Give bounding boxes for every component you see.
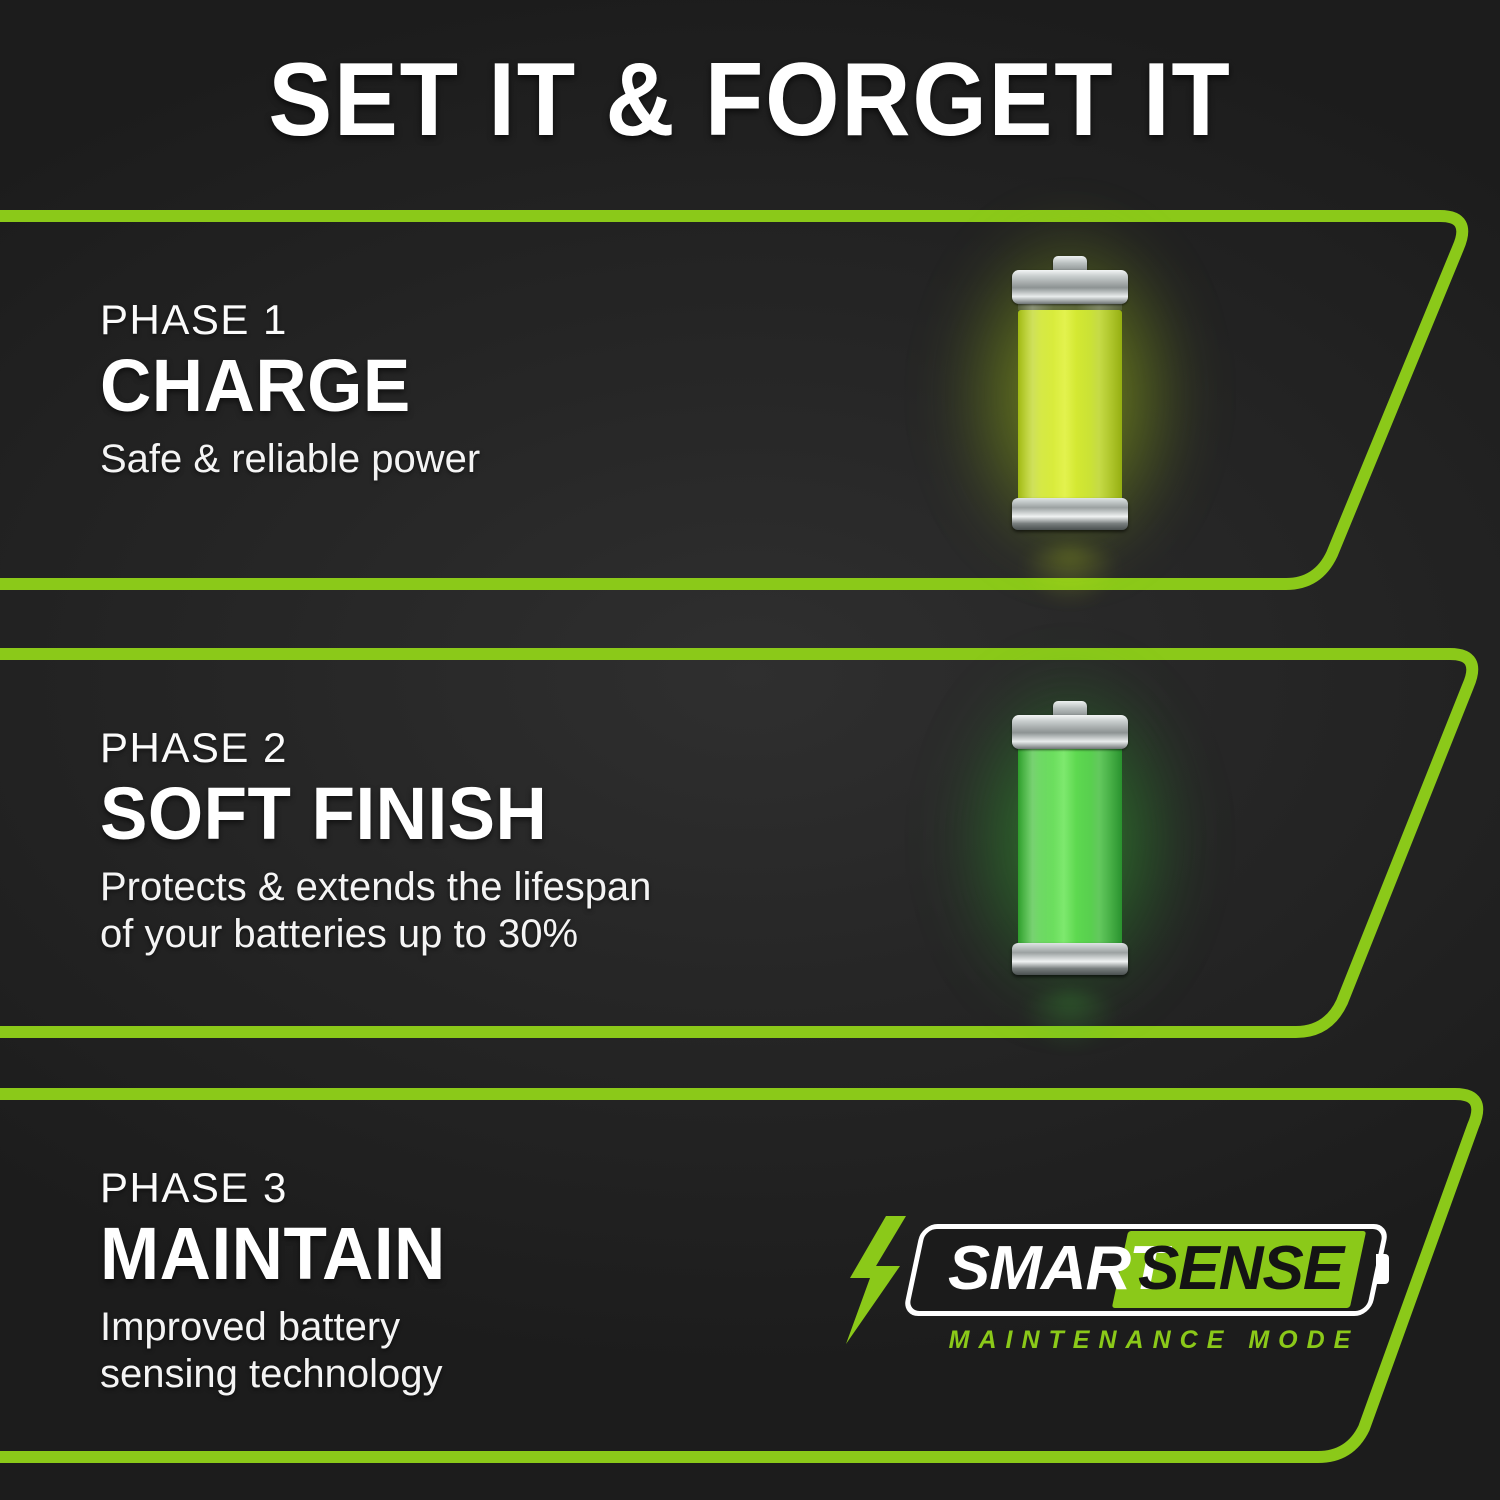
battery-cap xyxy=(1012,715,1128,749)
logo-word-smart: SMART xyxy=(948,1238,1167,1300)
lightning-bolt-icon xyxy=(834,1216,914,1344)
phase-card-2: PHASE 2 SOFT FINISH Protects & extends t… xyxy=(0,648,1500,1038)
battery-base xyxy=(1012,943,1128,975)
phase-card-1: PHASE 1 CHARGE Safe & reliable power xyxy=(0,210,1500,590)
logo-battery-terminal xyxy=(1376,1254,1389,1284)
poster-root: SET IT & FORGET IT PHASE 1 CHARGE Safe &… xyxy=(0,0,1500,1500)
logo-tagline: MAINTENANCE MODE xyxy=(924,1326,1384,1355)
phase-label: PHASE 3 xyxy=(100,1166,460,1210)
phase-description: Safe & reliable power xyxy=(100,436,480,483)
phase-text-block-1: PHASE 1 CHARGE Safe & reliable power xyxy=(100,298,480,483)
phase-label: PHASE 2 xyxy=(100,726,651,770)
battery-green-icon xyxy=(960,644,1180,1034)
phase-title: MAINTAIN xyxy=(100,1216,446,1291)
battery-base xyxy=(1012,498,1128,530)
battery-body xyxy=(1018,727,1122,963)
smartsense-logo: SMART SENSE MAINTENANCE MODE xyxy=(820,1222,1400,1362)
phase-label: PHASE 1 xyxy=(100,298,480,342)
phase-title: SOFT FINISH xyxy=(100,776,629,851)
phase-text-block-2: PHASE 2 SOFT FINISH Protects & extends t… xyxy=(100,726,651,958)
battery-body xyxy=(1018,282,1122,518)
logo-word-sense: SENSE xyxy=(1138,1238,1343,1300)
battery-lime-icon xyxy=(960,204,1180,584)
phase-title: CHARGE xyxy=(100,348,465,423)
phase-text-block-3: PHASE 3 MAINTAIN Improved battery sensin… xyxy=(100,1166,460,1398)
phase-description: Protects & extends the lifespan of your … xyxy=(100,864,651,958)
battery-cap xyxy=(1012,270,1128,304)
phase-description: Improved battery sensing technology xyxy=(100,1304,460,1398)
page-title: SET IT & FORGET IT xyxy=(60,48,1440,152)
